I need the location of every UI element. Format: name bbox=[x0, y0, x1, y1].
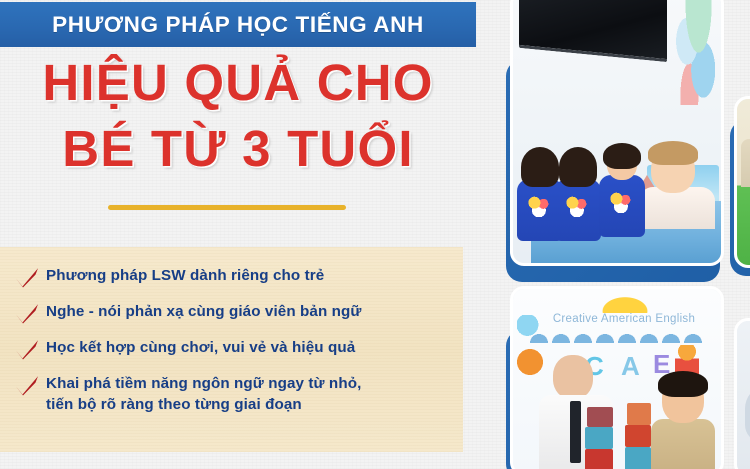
check-icon bbox=[14, 374, 40, 398]
list-item-text: Nghe - nói phản xạ cùng giáo viên bản ng… bbox=[46, 301, 362, 322]
teacher-head bbox=[651, 147, 695, 193]
header-banner: PHƯƠNG PHÁP HỌC TIẾNG ANH bbox=[0, 2, 476, 47]
photo-content bbox=[737, 99, 750, 265]
student-head bbox=[563, 152, 593, 184]
student-uniform bbox=[599, 175, 645, 237]
poster-root: PHƯƠNG PHÁP HỌC TIẾNG ANH HIỆU QUẢ CHO B… bbox=[0, 0, 750, 469]
photo-content: Creative American English C A E bbox=[513, 289, 721, 469]
person-shape bbox=[745, 387, 750, 441]
list-item: Nghe - nói phản xạ cùng giáo viên bản ng… bbox=[14, 301, 449, 326]
list-item: Phương pháp LSW dành riêng cho trẻ bbox=[14, 265, 449, 290]
header-banner-text: PHƯƠNG PHÁP HỌC TIẾNG ANH bbox=[52, 12, 424, 38]
photo-content bbox=[513, 0, 721, 263]
photo-column: Creative American English C A E bbox=[478, 0, 750, 469]
headline-line-1: HIỆU QUẢ CHO bbox=[0, 52, 476, 114]
photo-right-sliver-top bbox=[734, 96, 750, 268]
toy-block bbox=[585, 427, 613, 449]
headline-underline-rule bbox=[108, 205, 346, 210]
student-hair bbox=[603, 143, 641, 169]
list-item-line-1: Phương pháp LSW dành riêng cho trẻ bbox=[46, 267, 324, 284]
photo-classroom-volcano-activity bbox=[510, 0, 724, 266]
toy-block-tower bbox=[585, 397, 669, 469]
student-hair bbox=[559, 147, 597, 187]
list-item-text: Phương pháp LSW dành riêng cho trẻ bbox=[46, 265, 324, 286]
person-torso bbox=[741, 139, 750, 187]
photo-teacher-blocks-activity: Creative American English C A E bbox=[510, 286, 724, 469]
photo-content bbox=[737, 321, 750, 469]
feature-list-panel: Phương pháp LSW dành riêng cho trẻ Nghe … bbox=[0, 247, 463, 452]
whiteboard-sun-drawing bbox=[599, 295, 651, 313]
left-content-column: PHƯƠNG PHÁP HỌC TIẾNG ANH HIỆU QUẢ CHO B… bbox=[0, 0, 478, 469]
student-hair bbox=[658, 371, 708, 397]
teacher-shirt bbox=[639, 187, 715, 229]
whiteboard-caption-text: Creative American English bbox=[539, 313, 709, 325]
list-item-line-1: Nghe - nói phản xạ cùng giáo viên bản ng… bbox=[46, 303, 362, 320]
toy-block bbox=[625, 425, 651, 447]
teacher-hair bbox=[648, 141, 698, 165]
student-hair bbox=[521, 147, 559, 187]
list-item: Học kết hợp cùng chơi, vui vẻ và hiệu qu… bbox=[14, 337, 449, 362]
check-icon bbox=[14, 266, 40, 290]
toy-block bbox=[625, 447, 651, 469]
photo-right-sliver-bottom bbox=[734, 318, 750, 469]
whiteboard-planet-drawing bbox=[517, 315, 543, 341]
list-item-text: Khai phá tiềm năng ngôn ngữ ngay từ nhỏ,… bbox=[46, 373, 361, 415]
list-item-line-2: tiến bộ rõ ràng theo từng giai đoạn bbox=[46, 394, 361, 415]
list-item-line-1: Khai phá tiềm năng ngôn ngữ ngay từ nhỏ, bbox=[46, 375, 361, 392]
list-item-line-1: Học kết hợp cùng chơi, vui vẻ và hiệu qu… bbox=[46, 339, 355, 356]
student-head bbox=[607, 148, 637, 180]
uniform-logo bbox=[526, 195, 554, 217]
toy-block bbox=[627, 403, 651, 425]
teacher-figure bbox=[639, 147, 715, 229]
student-figure bbox=[599, 148, 645, 237]
teacher-head bbox=[553, 355, 593, 399]
check-icon bbox=[14, 338, 40, 362]
toy-block bbox=[585, 449, 613, 469]
check-icon bbox=[14, 302, 40, 326]
toy-block bbox=[587, 407, 613, 427]
list-item-text: Học kết hợp cùng chơi, vui vẻ và hiệu qu… bbox=[46, 337, 355, 358]
student-figure bbox=[555, 152, 601, 241]
uniform-logo bbox=[564, 195, 592, 217]
student-head bbox=[525, 152, 555, 184]
teacher-necktie bbox=[570, 401, 581, 463]
list-item: Khai phá tiềm năng ngôn ngữ ngay từ nhỏ,… bbox=[14, 373, 449, 415]
wall-decoration-fish bbox=[671, 0, 717, 105]
headline-block: HIỆU QUẢ CHO BÉ TỪ 3 TUỔI bbox=[0, 52, 476, 212]
whiteboard-letter-a: A bbox=[621, 351, 640, 382]
student-uniform bbox=[555, 179, 601, 241]
whiteboard-wave-drawing bbox=[529, 331, 709, 343]
uniform-logo bbox=[608, 191, 636, 213]
headline-line-2: BÉ TỪ 3 TUỔI bbox=[0, 118, 476, 180]
